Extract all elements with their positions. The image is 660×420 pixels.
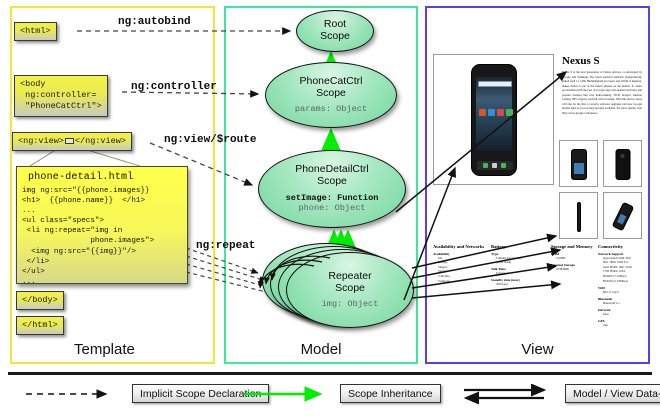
- legend-label-inheritance: Scope Inheritance: [340, 384, 441, 403]
- placeholder-rect-icon: [65, 138, 74, 144]
- scope-root-title-2: Scope: [320, 31, 350, 43]
- phone-app-icon-3: [497, 109, 504, 116]
- note-code: img ng:src="{{phone.images}} <h1> {{phon…: [22, 186, 183, 287]
- code-box-body-open[interactable]: <body ng:controller= "PhoneCatCtrl">: [14, 75, 108, 117]
- scope-repeater-title-2: Scope: [335, 283, 365, 295]
- nav-icon-phone: [483, 163, 488, 168]
- view-thumbnail-grid: [559, 140, 643, 240]
- legend: Implicit Scope Declaration Scope Inherit…: [0, 372, 660, 420]
- panel-model-label: Model: [226, 341, 416, 358]
- scope-repeater-prop-img: img: Object: [322, 299, 379, 309]
- scope-node-repeater[interactable]: Repeater Scope img: Object: [286, 252, 414, 328]
- phone-nav-bar: [477, 161, 513, 170]
- spec-column-storage: Storage and Memory RAM 512MB Internal St…: [551, 244, 601, 271]
- phone-app-icon-2: [488, 109, 495, 116]
- spec-value-battery-type-1: (1500 mAh): [496, 260, 543, 265]
- legend-label-binding: Model / View Data-binding: [565, 384, 660, 403]
- spec-column-connectivity: Connectivity Network Support Quad-band G…: [598, 244, 644, 328]
- scope-phonedetailctrl-title-2: Scope: [317, 176, 347, 188]
- spec-value-ram: 512MB: [556, 256, 601, 261]
- legend-green-arrow-icon: [240, 384, 336, 404]
- spec-value-infrared: false: [603, 312, 644, 317]
- code-box-body-close[interactable]: </body>: [16, 291, 64, 310]
- legend-item-implicit-scope-declaration: Implicit Scope Declaration: [22, 384, 122, 404]
- spec-column-availability: Availability and Networks Availability M…: [433, 244, 477, 283]
- view-phone-title: Nexus S: [562, 55, 600, 67]
- spec-value-internal-storage: 16384MB: [556, 267, 601, 272]
- spec-value-battery-standby: 428 hours: [496, 282, 543, 287]
- spec-column-battery: Battery Type Lithium Ion (Li-Ion) (1500 …: [491, 244, 543, 287]
- view-rendered-page: Nexus S Nexus S is the next generation o…: [431, 12, 644, 342]
- thumb-phone-front-icon: [571, 149, 587, 180]
- phone-app-icon-1: [479, 109, 486, 116]
- phone-hero-image[interactable]: [433, 54, 554, 185]
- ng-view-open-tag: <ng:view>: [18, 136, 64, 146]
- legend-item-model-view-data-binding: Model / View Data-binding: [460, 384, 560, 404]
- view-thumbnail-0[interactable]: [559, 140, 598, 187]
- label-ng-autobind: ng:autobind: [118, 16, 191, 28]
- thumb-phone-back-icon: [615, 149, 630, 180]
- scope-phonecatctrl-prop-params: params: Object: [295, 104, 367, 114]
- label-ng-view-route: ng:view/$route: [164, 134, 256, 146]
- spec-value-bluetooth: Bluetooth 2.1: [603, 301, 644, 306]
- spec-value-availability-5: Vodafone: [438, 279, 477, 284]
- view-phone-description: Nexus S is the next generation of Nexus …: [562, 70, 642, 115]
- thumb-phone-angled-icon: [612, 202, 635, 232]
- legend-dashed-arrow-icon: [22, 384, 122, 404]
- spec-value-gps: true: [603, 323, 644, 328]
- spec-value-wifi: 802.11 b/g/n: [603, 290, 644, 295]
- scope-phonedetailctrl-prop-phone: phone: Object: [298, 203, 365, 213]
- thumb-phone-side-icon: [577, 202, 581, 232]
- code-box-html-close[interactable]: </html>: [16, 316, 64, 335]
- spec-header-connectivity: Connectivity: [598, 244, 644, 249]
- spec-header-availability: Availability and Networks: [433, 244, 477, 249]
- phone-device-illustration: [471, 64, 517, 176]
- note-title: phone-detail.html: [22, 170, 183, 186]
- spec-header-storage: Storage and Memory: [551, 244, 601, 249]
- scope-node-root[interactable]: Root Scope: [296, 10, 374, 52]
- code-box-html-open[interactable]: <html>: [14, 22, 57, 41]
- nav-icon-browser: [501, 163, 506, 168]
- legend-item-scope-inheritance: Scope Inheritance: [240, 384, 336, 404]
- nav-icon-apps: [492, 163, 497, 168]
- spec-value-battery-talk: 6 hours: [496, 271, 543, 276]
- spec-header-battery: Battery: [491, 244, 543, 249]
- scope-node-phonedetailctrl[interactable]: PhoneDetailCtrl Scope setImage: Function…: [258, 150, 406, 228]
- scope-node-phonecatctrl[interactable]: PhoneCatCtrl Scope params: Object: [265, 62, 397, 128]
- legend-double-arrow-icon: [460, 384, 560, 404]
- panel-view-label: View: [427, 341, 648, 358]
- sticky-note-phone-detail[interactable]: phone-detail.html img ng:src="{{phone.im…: [16, 166, 188, 284]
- view-thumbnail-2[interactable]: [559, 192, 598, 239]
- legend-divider: [8, 372, 652, 375]
- view-thumbnail-3[interactable]: [603, 192, 642, 239]
- scope-phonedetailctrl-prop-setimage: setImage: Function: [286, 193, 379, 203]
- code-box-ng-view[interactable]: <ng:view></ng:view>: [12, 132, 132, 151]
- view-spec-table: Availability and Networks Availability M…: [433, 244, 642, 316]
- panel-template-label: Template: [12, 341, 213, 358]
- label-ng-controller: ng:controller: [131, 81, 217, 93]
- scope-phonecatctrl-title-2: Scope: [316, 88, 346, 100]
- diagram-canvas: Template Model View: [0, 0, 660, 420]
- phone-search-bar: [478, 81, 512, 87]
- label-ng-repeat: ng:repeat: [196, 240, 255, 252]
- ng-view-close-tag: </ng:view>: [75, 136, 126, 146]
- view-thumbnail-1[interactable]: [603, 140, 642, 187]
- phone-app-icon-4: [506, 109, 513, 116]
- spec-value-network-5: HSUPA (5.76Mbps): [603, 279, 644, 284]
